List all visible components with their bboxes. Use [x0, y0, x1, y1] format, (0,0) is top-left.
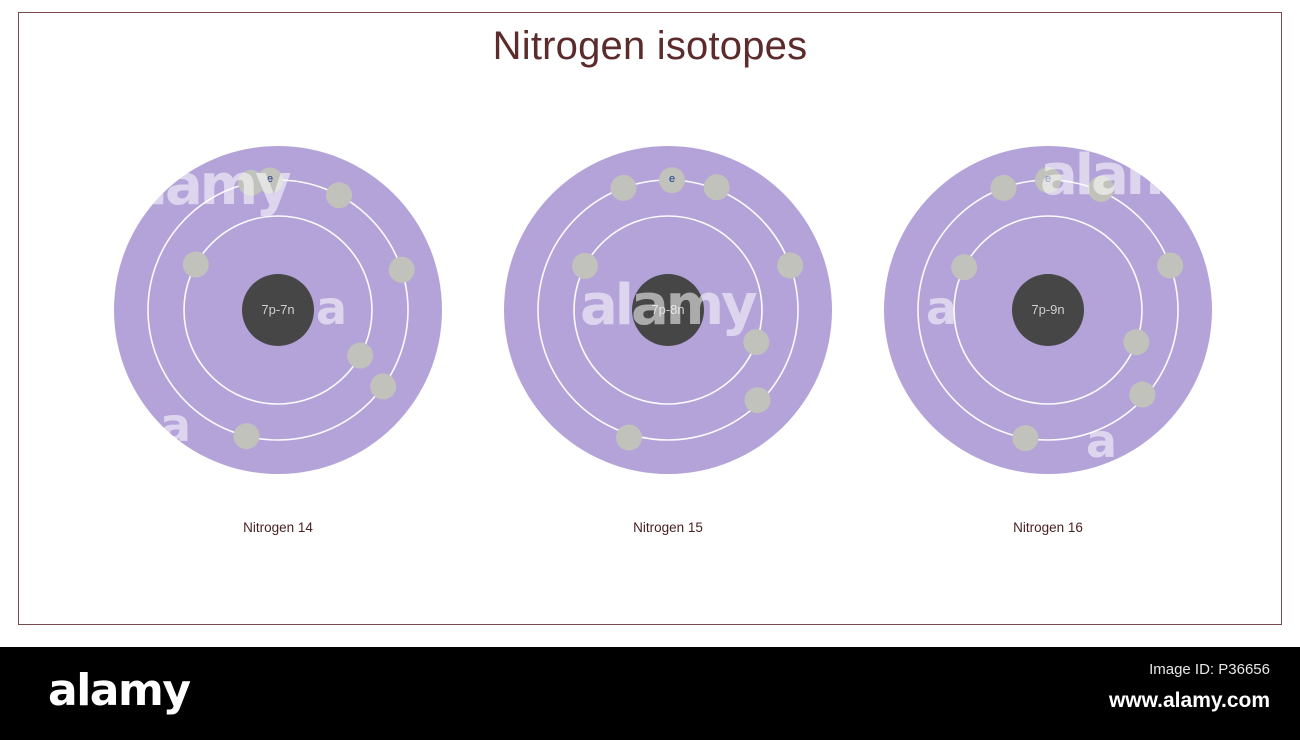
electron-label-nitrogen-15: e — [663, 173, 681, 185]
electron-outer-1b — [326, 182, 352, 208]
atom-graphic-nitrogen-15: 7p-8n e alamy — [478, 120, 858, 500]
electron-outer-2d — [745, 387, 771, 413]
electron-outer-3d — [1129, 382, 1155, 408]
atom-diagram-nitrogen-14[interactable]: 7p-7n e alamy a a Nitrogen 14 — [88, 120, 468, 560]
electron-inner-2b — [743, 329, 769, 355]
page-title: Nitrogen isotopes — [0, 24, 1300, 69]
alamy-url-text[interactable]: www.alamy.com — [1109, 689, 1270, 713]
nucleus-label-nitrogen-15: 7p-8n — [478, 302, 858, 317]
electron-outer-2a — [611, 175, 637, 201]
electron-inner-3b — [1123, 329, 1149, 355]
atom-caption-nitrogen-15: Nitrogen 15 — [478, 520, 858, 535]
electron-inner-1a — [183, 252, 209, 278]
electron-label-nitrogen-14: e — [261, 173, 279, 185]
atom-diagram-nitrogen-15[interactable]: 7p-8n e alamy Nitrogen 15 — [478, 120, 858, 560]
image-id-text: Image ID: P36656 — [1149, 661, 1270, 678]
electron-inner-2a — [572, 253, 598, 279]
electron-inner-3a — [951, 254, 977, 280]
atom-graphic-nitrogen-14: 7p-7n e alamy a a — [88, 120, 468, 500]
electron-label-nitrogen-16: e — [1039, 173, 1057, 185]
electron-outer-3a — [991, 175, 1017, 201]
atom-diagram-nitrogen-16[interactable]: 7p-9n e alamy a a Nitrogen 16 — [858, 120, 1238, 560]
electron-outer-2e — [616, 425, 642, 451]
atom-caption-nitrogen-16: Nitrogen 16 — [858, 520, 1238, 535]
alamy-footer-bar: alamy Image ID: P36656 www.alamy.com — [0, 647, 1300, 740]
slide-canvas: Nitrogen isotopes — [0, 0, 1300, 646]
nucleus-label-nitrogen-14: 7p-7n — [88, 302, 468, 317]
electron-inner-1b — [347, 343, 373, 369]
electron-outer-3e — [1012, 425, 1038, 451]
atom-caption-nitrogen-14: Nitrogen 14 — [88, 520, 468, 535]
atom-diagram-row: 7p-7n e alamy a a Nitrogen 14 — [18, 120, 1282, 560]
nucleus-label-nitrogen-16: 7p-9n — [858, 302, 1238, 317]
atom-graphic-nitrogen-16: 7p-9n e alamy a a — [858, 120, 1238, 500]
electron-outer-2b — [704, 174, 730, 200]
electron-outer-1d — [370, 373, 396, 399]
electron-outer-3b — [1088, 176, 1114, 202]
electron-outer-2c — [777, 253, 803, 279]
electron-outer-1e — [234, 423, 260, 449]
electron-outer-3c — [1157, 253, 1183, 279]
electron-outer-1c — [389, 257, 415, 283]
alamy-logo: alamy — [48, 669, 190, 713]
